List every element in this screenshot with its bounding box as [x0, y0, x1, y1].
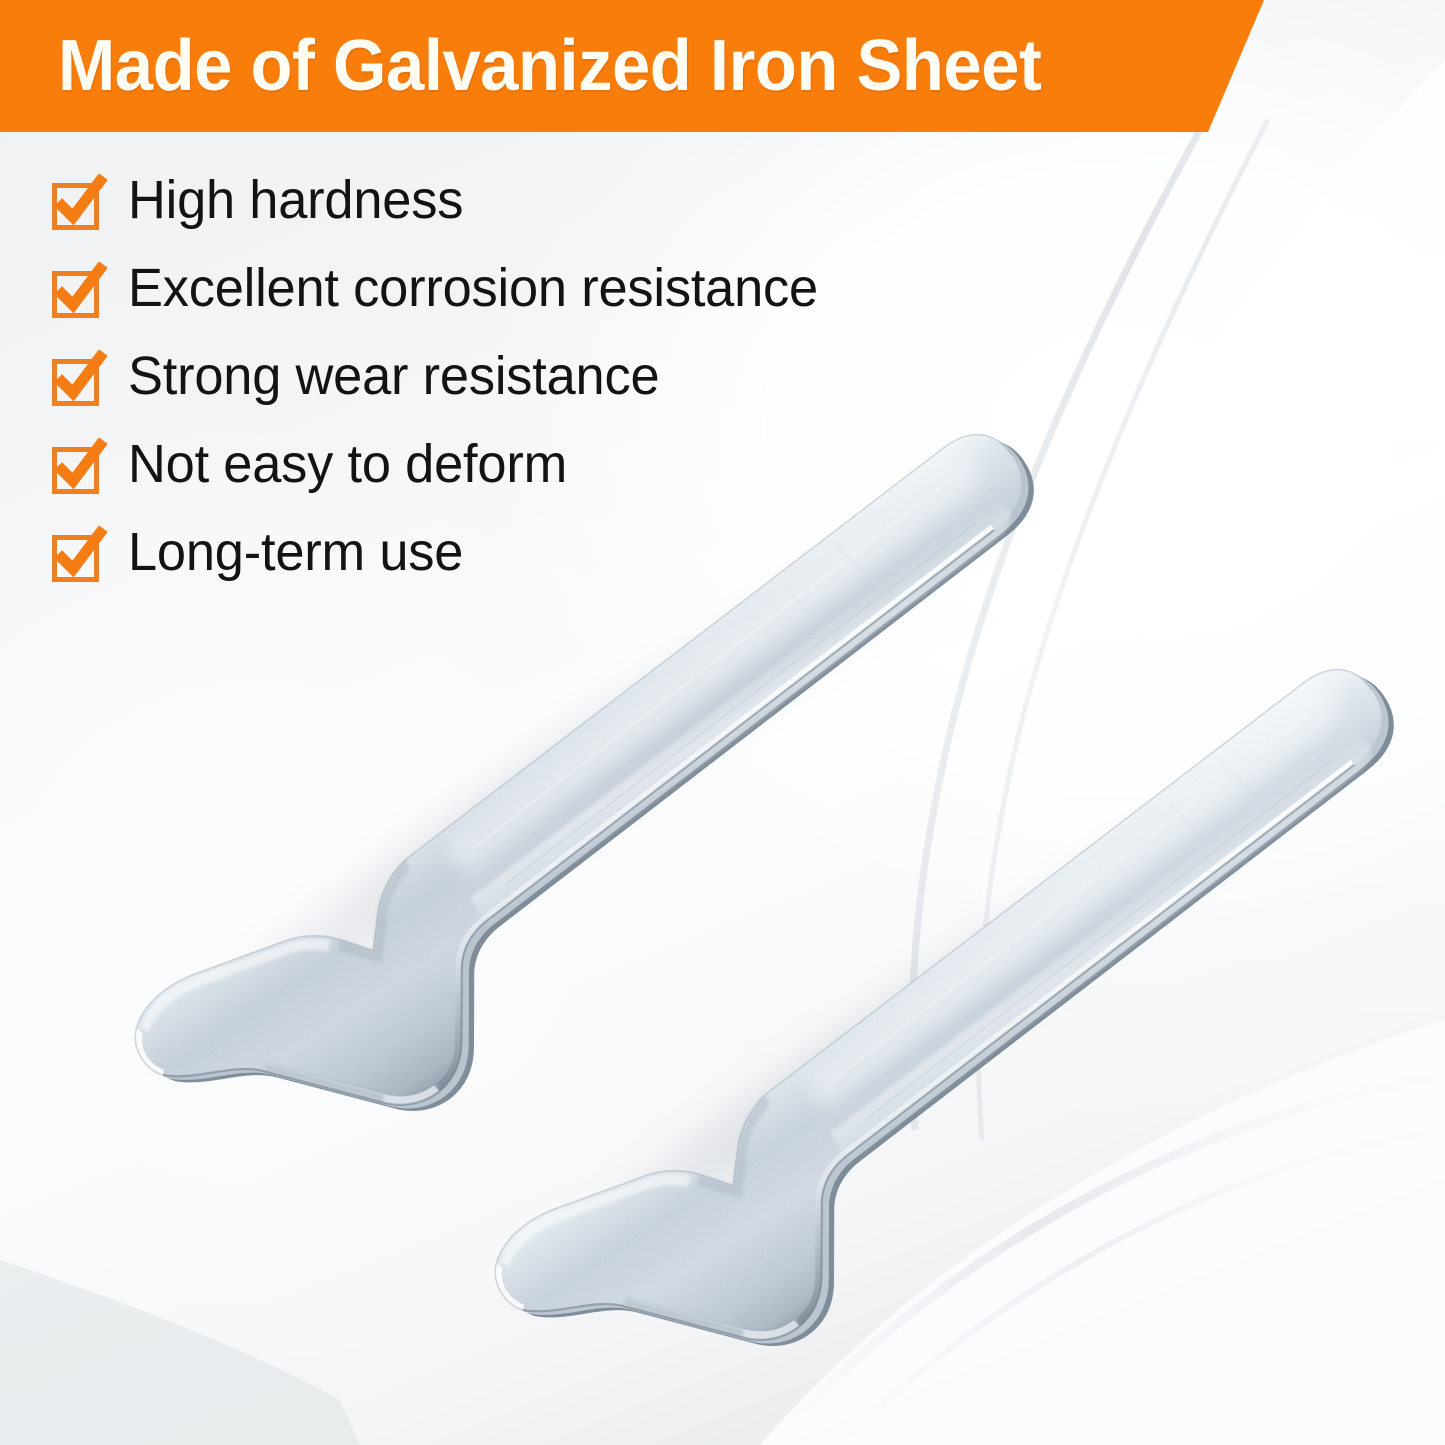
feature-item-high-hardness: High hardness — [50, 170, 950, 258]
feature-list: High hardness Excellent corrosion resist… — [50, 170, 950, 610]
product-feature-infographic: Made of Galvanized Iron Sheet High hardn… — [0, 0, 1445, 1445]
checkbox-checked-icon — [50, 438, 108, 496]
feature-label: Long-term use — [128, 522, 463, 582]
feature-label: Excellent corrosion resistance — [128, 258, 818, 318]
feature-item-long-term-use: Long-term use — [50, 522, 950, 610]
feature-label: High hardness — [128, 170, 463, 230]
feature-item-wear-resistance: Strong wear resistance — [50, 346, 950, 434]
checkbox-checked-icon — [50, 526, 108, 584]
feature-label: Strong wear resistance — [128, 346, 659, 406]
checkbox-checked-icon — [50, 262, 108, 320]
feature-item-corrosion-resistance: Excellent corrosion resistance — [50, 258, 950, 346]
checkbox-checked-icon — [50, 350, 108, 408]
feature-item-not-easy-to-deform: Not easy to deform — [50, 434, 950, 522]
feature-label: Not easy to deform — [128, 434, 567, 494]
checkbox-checked-icon — [50, 174, 108, 232]
page-title: Made of Galvanized Iron Sheet — [58, 24, 1041, 108]
